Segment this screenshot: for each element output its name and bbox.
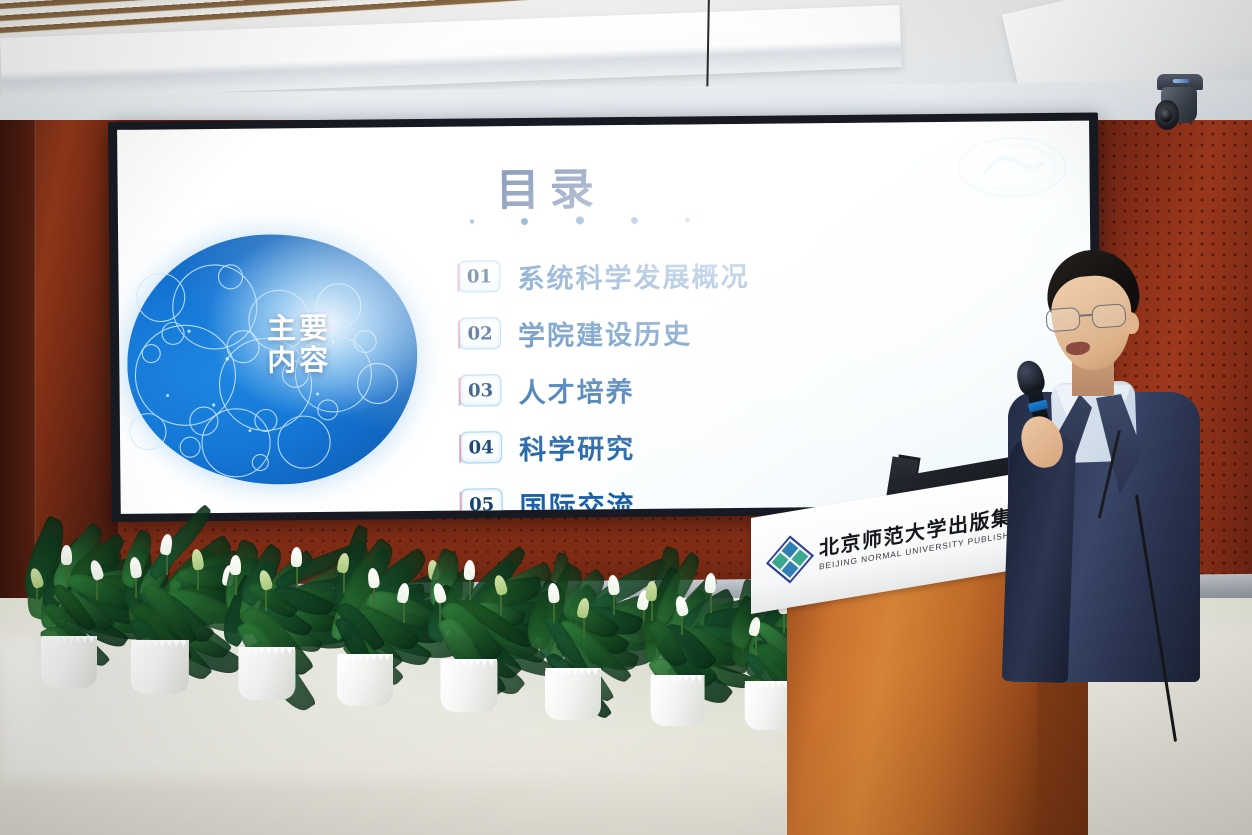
peace-lily-bloom [646,581,658,601]
plant-pot [337,654,393,706]
camera-lens [1155,100,1179,130]
agenda-number-badge: 01 [458,260,500,292]
presentation-slide: 目录 [117,121,1093,514]
glasses-lens-left [1045,307,1081,333]
orb-label-line2: 内容 [267,344,397,378]
peace-lily-bloom [230,555,242,576]
plant-pot [545,668,601,720]
agenda-item[interactable]: 04 科学研究 [460,420,890,472]
glasses-lens-right [1091,303,1127,329]
presentation-room-photo: 目录 [0,0,1252,835]
plant-pot [440,659,497,712]
plant-pot [131,640,189,694]
speaker [1000,250,1200,680]
peace-lily-bloom [61,545,72,565]
agenda-list: 01 系统科学发展概况 02 学院建设历史 03 人才培养 04 科学研究 05 [458,249,891,514]
slide-title: 目录 [495,153,604,218]
camera-led [1173,79,1189,83]
orb-label-line1: 主要 [267,311,397,345]
publishing-group-logo-icon [766,535,814,583]
glasses-bridge [1080,314,1092,317]
agenda-item-label: 人才培养 [518,369,634,409]
title-decorative-dots [470,212,690,228]
agenda-item[interactable]: 02 学院建设历史 [459,306,889,358]
plant-pot [238,647,295,700]
university-seal-watermark-icon [953,133,1072,202]
agenda-number-badge: 03 [459,374,501,406]
speaker-arm [1002,435,1077,683]
agenda-number-badge: 05 [461,488,503,514]
agenda-item-label: 国际交流 [519,483,635,513]
agenda-item-label: 学院建设历史 [518,312,692,353]
agenda-item[interactable]: 03 人才培养 [459,363,889,415]
plant-pot [650,675,705,726]
projection-screen-frame: 目录 [108,112,1102,521]
agenda-item-label: 科学研究 [519,426,635,466]
agenda-item-label: 系统科学发展概况 [517,254,749,295]
main-content-orb-graphic: 主要 内容 [126,233,418,486]
peace-lily-bloom [464,560,476,581]
agenda-item[interactable]: 01 系统科学发展概况 [458,249,888,301]
agenda-number-badge: 02 [459,317,501,349]
agenda-number-badge: 04 [460,431,502,463]
orb-label: 主要 内容 [267,311,398,377]
ptz-camera-icon [1157,74,1203,138]
